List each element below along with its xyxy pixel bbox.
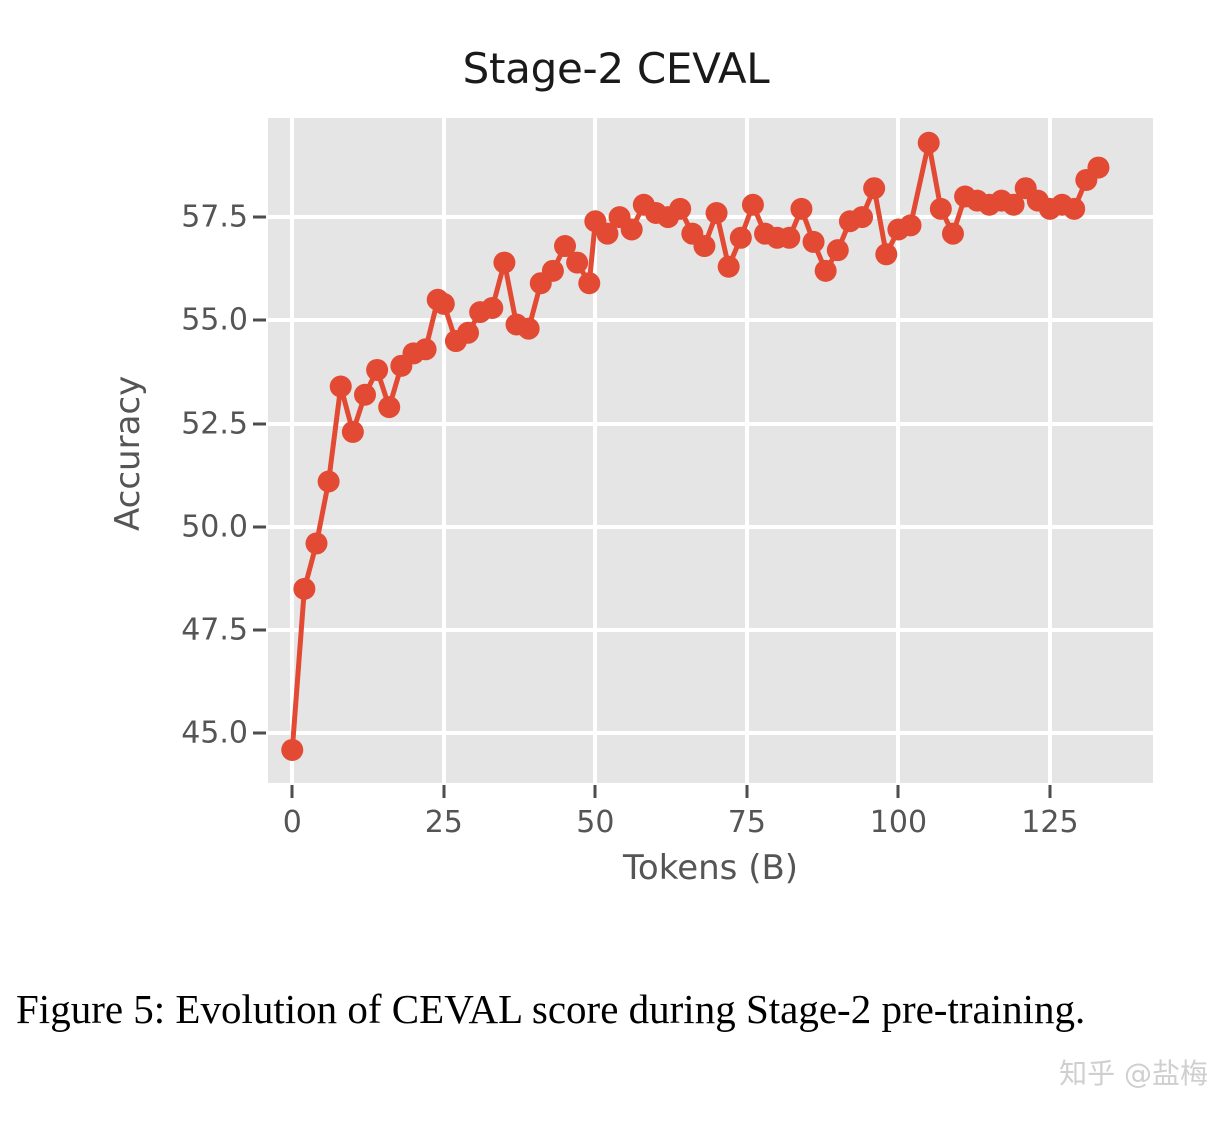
x-axis-label: Tokens (B)	[268, 848, 1153, 888]
y-axis-tick-label: 50.0	[128, 509, 248, 544]
data-point	[1087, 157, 1109, 179]
data-point	[693, 235, 715, 257]
y-axis-tick-label: 55.0	[128, 303, 248, 338]
data-point	[578, 272, 600, 294]
data-point	[942, 223, 964, 245]
data-point	[493, 252, 515, 274]
data-point	[803, 231, 825, 253]
x-axis-tick-mark	[897, 785, 900, 798]
y-axis-tick-label: 57.5	[128, 200, 248, 235]
data-point	[918, 132, 940, 154]
figure-container: Stage-2 CEVAL Accuracy 45.047.550.052.55…	[0, 0, 1232, 960]
data-point	[827, 239, 849, 261]
y-axis-tick-mark	[253, 629, 266, 632]
x-axis-tick-label: 25	[384, 805, 504, 840]
data-point	[718, 256, 740, 278]
chart-title: Stage-2 CEVAL	[0, 44, 1232, 93]
y-axis-tick-mark	[253, 525, 266, 528]
y-axis-label: Accuracy	[108, 375, 148, 530]
data-point	[518, 318, 540, 340]
data-point	[342, 421, 364, 443]
x-axis-tick-mark	[291, 785, 294, 798]
data-point	[669, 198, 691, 220]
x-axis-tick-label: 100	[838, 805, 958, 840]
data-point	[1063, 198, 1085, 220]
data-point	[815, 260, 837, 282]
x-axis-tick-label: 50	[535, 805, 655, 840]
y-axis-tick-label: 45.0	[128, 716, 248, 751]
data-point	[742, 194, 764, 216]
x-axis-tick-label: 0	[232, 805, 352, 840]
watermark-label: 知乎 @盐梅	[1059, 1052, 1208, 1092]
x-axis-tick-label: 75	[687, 805, 807, 840]
data-series-layer	[268, 118, 1153, 783]
x-axis-tick-mark	[442, 785, 445, 798]
data-point	[366, 359, 388, 381]
figure-caption: Figure 5: Evolution of CEVAL score durin…	[16, 984, 1232, 1036]
data-point	[378, 396, 400, 418]
data-point	[851, 206, 873, 228]
x-axis-tick-mark	[745, 785, 748, 798]
data-point	[293, 578, 315, 600]
data-point	[730, 227, 752, 249]
data-point	[706, 202, 728, 224]
y-axis-tick-label: 52.5	[128, 406, 248, 441]
data-point	[457, 322, 479, 344]
data-point	[930, 198, 952, 220]
x-axis-tick-label: 125	[990, 805, 1110, 840]
data-point	[875, 243, 897, 265]
data-point	[778, 227, 800, 249]
data-point	[566, 252, 588, 274]
data-point	[433, 293, 455, 315]
data-point	[481, 297, 503, 319]
data-point	[790, 198, 812, 220]
data-point	[281, 739, 303, 761]
data-point	[542, 260, 564, 282]
data-point	[863, 177, 885, 199]
data-point	[415, 338, 437, 360]
data-point	[621, 219, 643, 241]
data-point	[330, 375, 352, 397]
y-axis-tick-mark	[253, 216, 266, 219]
series-markers-ceval	[281, 132, 1109, 761]
data-point	[900, 214, 922, 236]
plot-area	[268, 118, 1153, 783]
y-axis-tick-label: 47.5	[128, 613, 248, 648]
data-point	[318, 470, 340, 492]
data-point	[354, 384, 376, 406]
y-axis-tick-mark	[253, 422, 266, 425]
data-point	[305, 532, 327, 554]
x-axis-tick-mark	[1048, 785, 1051, 798]
x-axis-tick-mark	[594, 785, 597, 798]
y-axis-tick-mark	[253, 732, 266, 735]
y-axis-tick-mark	[253, 319, 266, 322]
